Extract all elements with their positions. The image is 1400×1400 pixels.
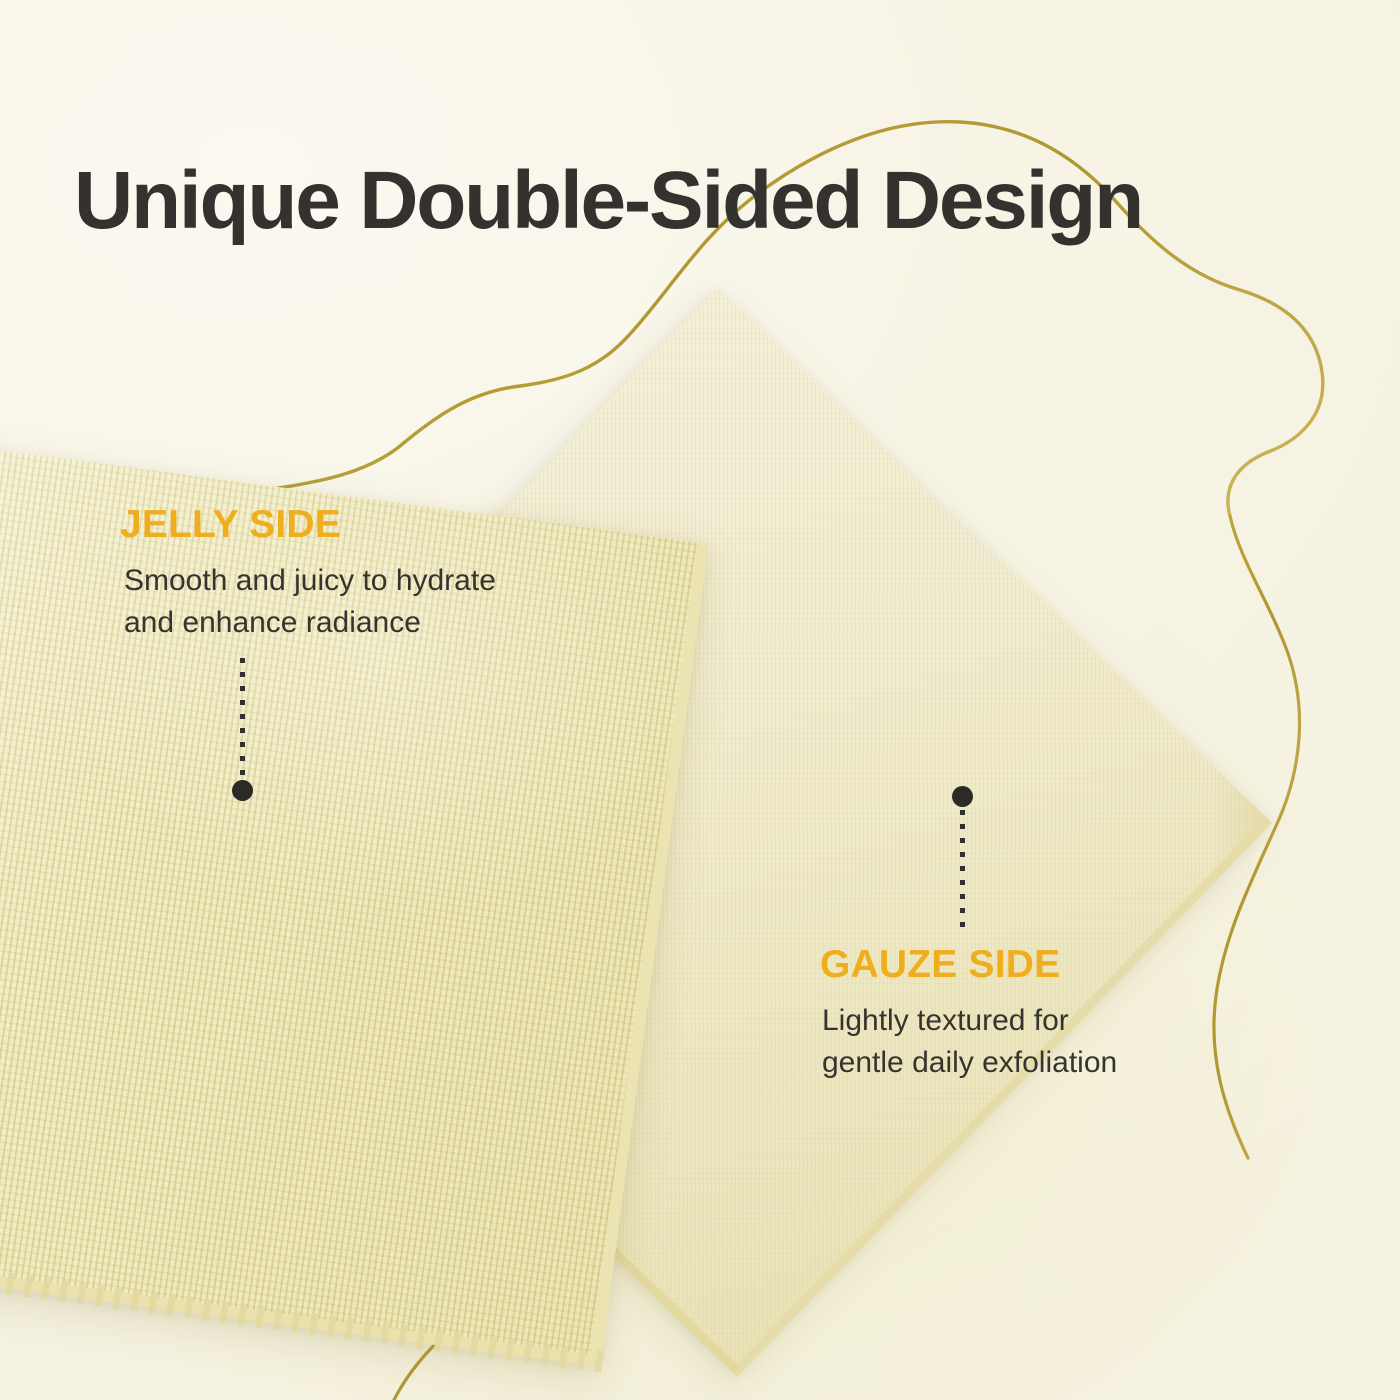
callout-jelly-description: Smooth and juicy to hydrate and enhance …	[124, 560, 496, 644]
leader-line-jelly-endpoint-dot	[232, 780, 253, 801]
leader-line-gauze	[960, 786, 965, 936]
callout-gauze-heading: GAUZE SIDE	[820, 945, 1117, 984]
callout-jelly-heading: JELLY SIDE	[120, 505, 496, 544]
leader-line-gauze-endpoint-dot	[952, 786, 973, 807]
callout-gauze-side: GAUZE SIDE Lightly textured for gentle d…	[820, 945, 1117, 1084]
leader-line-jelly-dots	[240, 658, 245, 788]
leader-line-jelly	[240, 658, 245, 818]
leader-line-gauze-dots	[960, 810, 965, 936]
callout-jelly-side: JELLY SIDE Smooth and juicy to hydrate a…	[120, 505, 496, 644]
callout-gauze-description: Lightly textured for gentle daily exfoli…	[822, 1000, 1117, 1084]
page-title: Unique Double-Sided Design	[74, 160, 1142, 242]
infographic-canvas: Unique Double-Sided Design JELLY SIDE Sm…	[0, 0, 1400, 1400]
